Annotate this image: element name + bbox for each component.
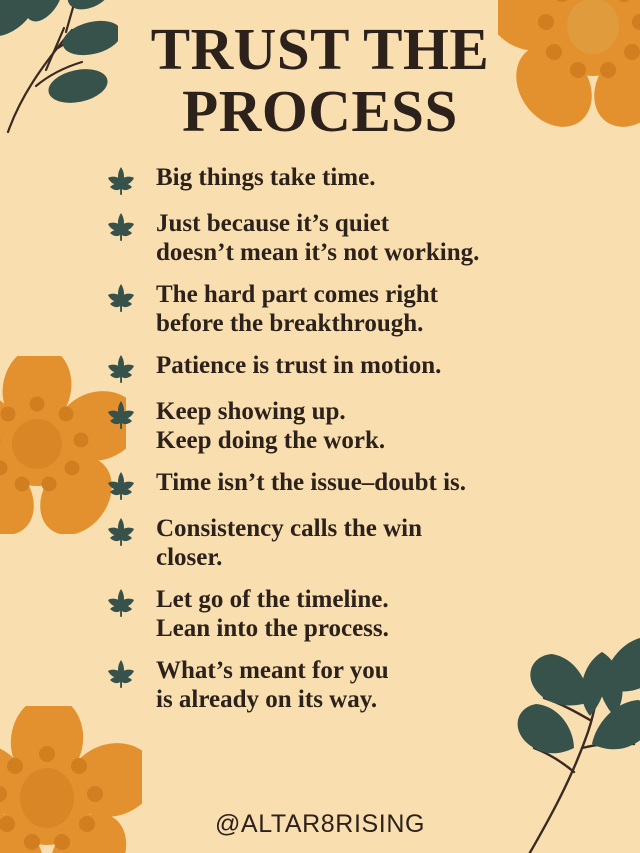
sprig-bullet-icon — [108, 212, 134, 242]
sprig-bullet-icon — [108, 400, 134, 430]
quote-text: Big things take time. — [156, 163, 578, 192]
quote-line: Patience is trust in motion. — [156, 351, 578, 380]
quote-line: Keep doing the work. — [156, 426, 578, 455]
quote-list: Big things take time.Just because it’s q… — [108, 163, 578, 727]
sprig-bullet-icon — [108, 471, 134, 501]
quote-text: Time isn’t the issue–doubt is. — [156, 468, 578, 497]
quote-item: Just because it’s quietdoesn’t mean it’s… — [108, 209, 578, 267]
title-line-2: PROCESS — [0, 80, 640, 142]
quote-text: Just because it’s quietdoesn’t mean it’s… — [156, 209, 578, 267]
quote-item: What’s meant for youis already on its wa… — [108, 656, 578, 714]
quote-item: Keep showing up.Keep doing the work. — [108, 397, 578, 455]
quote-text: Consistency calls the wincloser. — [156, 514, 578, 572]
quote-text: Patience is trust in motion. — [156, 351, 578, 380]
quote-line: Time isn’t the issue–doubt is. — [156, 468, 578, 497]
quote-line: before the breakthrough. — [156, 309, 578, 338]
quote-line: Big things take time. — [156, 163, 578, 192]
quote-text: The hard part comes rightbefore the brea… — [156, 280, 578, 338]
quote-line: What’s meant for you — [156, 656, 578, 685]
sprig-bullet-icon — [108, 517, 134, 547]
quote-text: What’s meant for youis already on its wa… — [156, 656, 578, 714]
sprig-bullet-icon — [108, 166, 134, 196]
quote-item: Patience is trust in motion. — [108, 351, 578, 384]
quote-item: Let go of the timeline.Lean into the pro… — [108, 585, 578, 643]
poster-canvas: TRUST THE PROCESS Big things take time.J… — [0, 0, 640, 853]
account-handle: @ALTAR8RISING — [0, 810, 640, 839]
sprig-bullet-icon — [108, 588, 134, 618]
quote-line: doesn’t mean it’s not working. — [156, 238, 578, 267]
sprig-bullet-icon — [108, 354, 134, 384]
quote-line: is already on its way. — [156, 685, 578, 714]
quote-line: closer. — [156, 543, 578, 572]
quote-item: Big things take time. — [108, 163, 578, 196]
quote-line: Lean into the process. — [156, 614, 578, 643]
quote-item: Time isn’t the issue–doubt is. — [108, 468, 578, 501]
quote-line: Let go of the timeline. — [156, 585, 578, 614]
quote-item: The hard part comes rightbefore the brea… — [108, 280, 578, 338]
quote-line: Keep showing up. — [156, 397, 578, 426]
quote-text: Let go of the timeline.Lean into the pro… — [156, 585, 578, 643]
quote-line: The hard part comes right — [156, 280, 578, 309]
quote-item: Consistency calls the wincloser. — [108, 514, 578, 572]
title-line-1: TRUST THE — [0, 18, 640, 80]
sprig-bullet-icon — [108, 659, 134, 689]
poster-title: TRUST THE PROCESS — [0, 18, 640, 142]
quote-line: Just because it’s quiet — [156, 209, 578, 238]
quote-line: Consistency calls the win — [156, 514, 578, 543]
quote-text: Keep showing up.Keep doing the work. — [156, 397, 578, 455]
sprig-bullet-icon — [108, 283, 134, 313]
